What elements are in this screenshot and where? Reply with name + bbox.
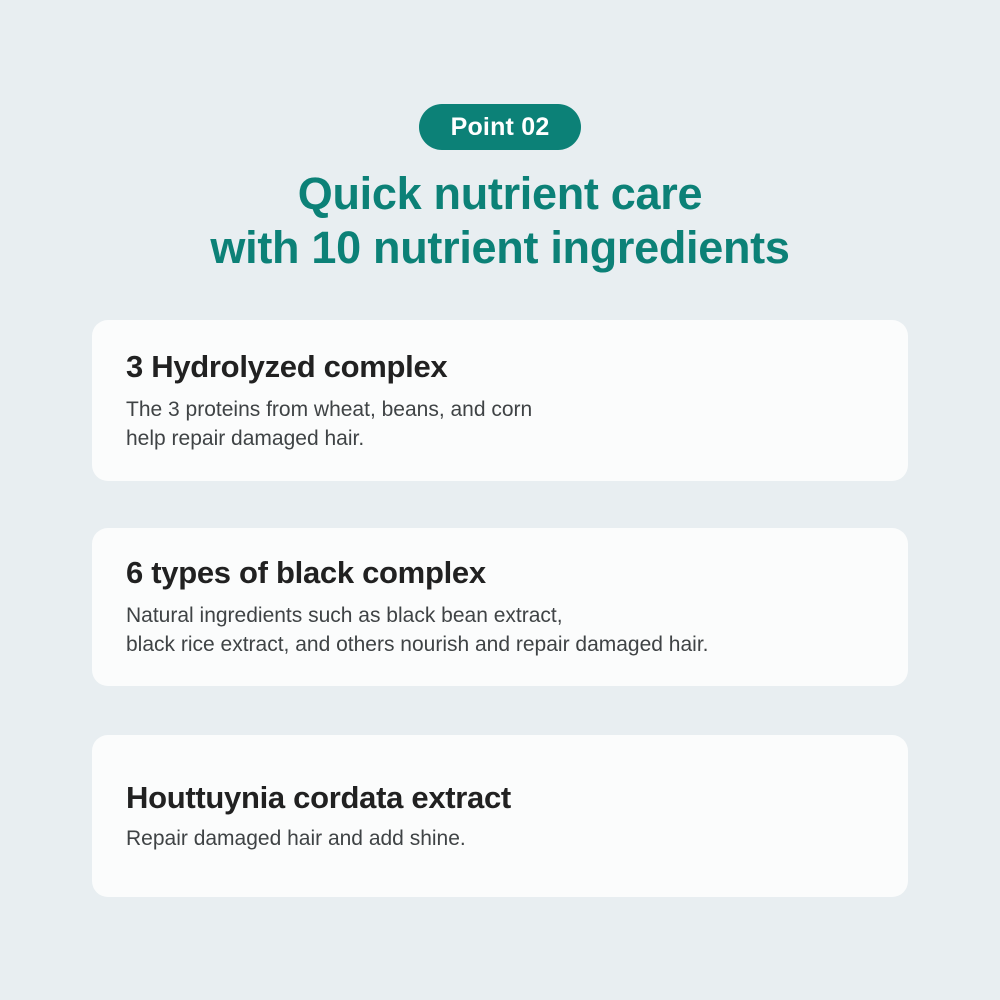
feature-card-title: Houttuynia cordata extract bbox=[126, 780, 874, 816]
feature-card-list: 3 Hydrolyzed complex The 3 proteins from… bbox=[92, 320, 908, 897]
infographic-page: Point 02 Quick nutrient care with 10 nut… bbox=[0, 0, 1000, 1000]
point-badge: Point 02 bbox=[419, 104, 582, 150]
feature-card-body-line-1: The 3 proteins from wheat, beans, and co… bbox=[126, 395, 874, 424]
feature-card-body: The 3 proteins from wheat, beans, and co… bbox=[126, 395, 874, 453]
feature-card-body-line-2: help repair damaged hair. bbox=[126, 424, 874, 453]
feature-card-body-line-1: Natural ingredients such as black bean e… bbox=[126, 601, 874, 630]
page-title: Quick nutrient care with 10 nutrient ing… bbox=[0, 167, 1000, 275]
feature-card: 6 types of black complex Natural ingredi… bbox=[92, 528, 908, 686]
page-title-line-1: Quick nutrient care bbox=[0, 167, 1000, 221]
feature-card-title: 6 types of black complex bbox=[126, 555, 874, 591]
feature-card: Houttuynia cordata extract Repair damage… bbox=[92, 735, 908, 897]
feature-card: 3 Hydrolyzed complex The 3 proteins from… bbox=[92, 320, 908, 481]
page-title-line-2: with 10 nutrient ingredients bbox=[0, 221, 1000, 275]
feature-card-title: 3 Hydrolyzed complex bbox=[126, 349, 874, 385]
feature-card-body-line-1: Repair damaged hair and add shine. bbox=[126, 824, 874, 853]
feature-card-body: Repair damaged hair and add shine. bbox=[126, 824, 874, 853]
feature-card-body-line-2: black rice extract, and others nourish a… bbox=[126, 630, 874, 659]
badge-row: Point 02 bbox=[0, 104, 1000, 150]
feature-card-body: Natural ingredients such as black bean e… bbox=[126, 601, 874, 659]
